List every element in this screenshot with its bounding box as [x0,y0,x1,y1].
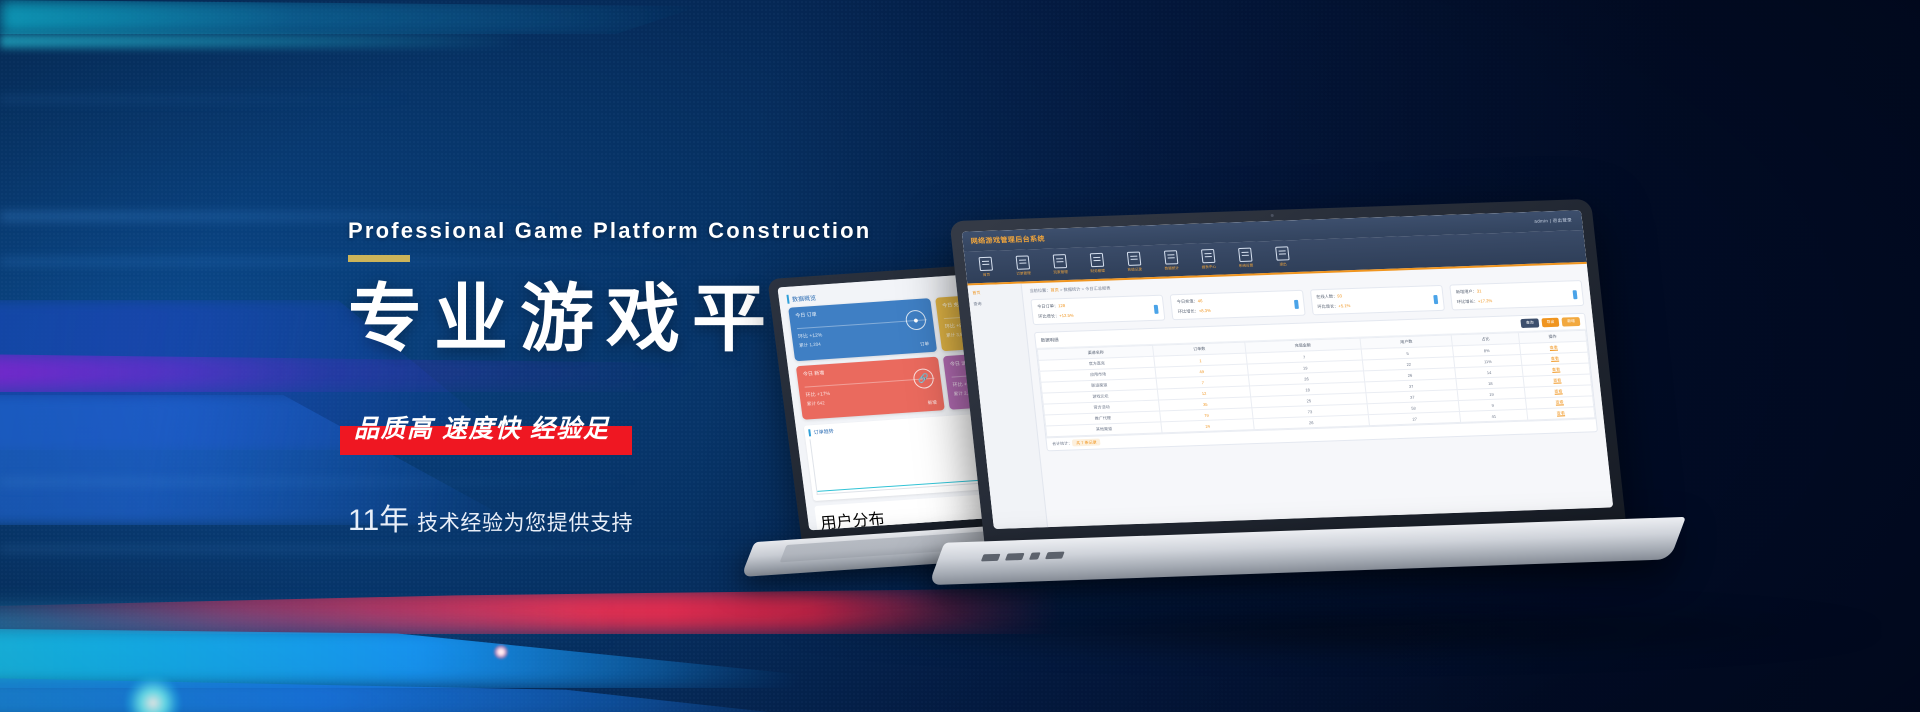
kpi-bottom: 环比增长：+8.3% [1178,305,1299,315]
kpi-bottom-value: +17.2% [1478,298,1493,303]
stats-icon [1163,250,1178,264]
kpi-bottom: 环比增长：+12.5% [1038,310,1159,320]
app-main-content: 当前位置：首页 > 数据统计 > 今日汇总报表 今日订单：128 环比增长：+1… [1022,264,1614,527]
front-laptop: 网络游戏管理后台系统 admin | 退出登录 首页 订单管理 [929,197,1700,680]
toolbar-label: 订单管理 [1016,271,1031,276]
report-icon [1200,248,1215,262]
kpi-top-value: 93 [1337,293,1342,298]
toolbar-label: 充值记录 [1127,267,1142,272]
finance-icon [1089,252,1104,266]
toolbar-item-orders[interactable]: 订单管理 [1012,255,1034,277]
player-icon [1052,254,1067,268]
breadcrumb-prefix: 当前位置： [1029,288,1051,294]
app-body: 首页 查询 当前位置：首页 > 数据统计 > 今日汇总报表 今日订单：128 [967,264,1613,529]
kpi-card[interactable]: 在线人数：93 环比增长：+5.1% [1309,285,1444,315]
years-number: 11年 [348,504,409,537]
feature-badge: 品质高 速度快 经验足 [348,409,615,445]
app-title: 网络游戏管理后台系统 [970,234,1045,247]
kpi-top-label: 今日订单： [1037,303,1059,309]
banner-stage: Professional Game Platform Construction … [0,0,1920,712]
kpi-bottom-label: 环比增长： [1038,313,1060,319]
kpi-top: 新增用户：31 [1456,285,1577,295]
kpi-card[interactable]: 今日充值：46 环比增长：+8.3% [1170,290,1305,320]
breadcrumb-suffix: > 数据统计 > 今日汇总报表 [1059,285,1111,292]
sidebar-item-query[interactable]: 查询 [973,300,1019,308]
toolbar-label: 数据统计 [1164,266,1179,271]
kpi-top-value: 46 [1197,298,1202,303]
kpi-card[interactable]: 今日订单：128 环比增长：+12.5% [1030,295,1165,325]
home-icon [978,256,993,270]
kpi-bottom-value: +5.1% [1338,303,1351,308]
stat-icon-label: 新增 [927,400,937,407]
table-title: 数据明细 [1041,337,1059,344]
years-description: 技术经验为您提供支持 [417,512,633,535]
toolbar-label: 财务管理 [1090,268,1105,273]
query-button[interactable]: 查询 [1521,318,1540,328]
front-laptop-screen: 网络游戏管理后台系统 admin | 退出登录 首页 订单管理 [962,210,1614,529]
table-footer-label: 合计统计： [1052,441,1073,447]
laptop-ports [981,552,1065,562]
kpi-top: 今日订单：128 [1037,300,1158,310]
kpi-bottom-value: +8.3% [1199,308,1212,313]
export-button[interactable]: 导出 [1541,318,1560,328]
kpi-bottom-value: +12.5% [1059,313,1074,318]
badge-label: 品质高 速度快 经验足 [348,409,615,445]
kpi-top-label: 今日充值： [1176,298,1198,304]
toolbar-item-finance[interactable]: 财务管理 [1086,252,1108,274]
add-button[interactable]: 新增 [1562,317,1581,327]
settings-icon [1237,247,1252,261]
toolbar-item-stats[interactable]: 数据统计 [1160,250,1182,272]
kpi-top: 在线人数：93 [1316,290,1437,300]
toolbar-label: 系统设置 [1239,263,1254,268]
kpi-top: 今日充值：46 [1176,295,1297,305]
chart-bar-icon [1293,300,1298,309]
sidebar-item-home[interactable]: 首页 [972,289,1018,297]
chart-bar-icon [1433,295,1438,304]
table-footer-value: 共 7 条记录 [1072,439,1101,447]
port-icon [981,554,1001,562]
toolbar-item-reports[interactable]: 报表中心 [1197,248,1219,270]
kpi-top-value: 128 [1058,303,1066,308]
stat-card[interactable]: 今日 新增 环比 +17% 累计 642 🔗 新增 [796,357,945,420]
toolbar-item-settings[interactable]: 系统设置 [1234,247,1256,269]
kpi-bottom: 环比增长：+17.2% [1457,295,1578,305]
user-bar[interactable]: admin | 退出登录 [1534,217,1572,224]
kpi-bottom: 环比增长：+5.1% [1317,300,1438,310]
toolbar-item-logout[interactable]: 退出 [1271,246,1293,268]
kpi-bottom-label: 环比增长： [1178,308,1200,314]
stat-card[interactable]: 今日 订单 环比 +12% 累计 1,204 ● 订单 [788,298,937,361]
webcam-icon [1271,214,1274,217]
chart-bar-icon [1154,305,1159,314]
kpi-top-value: 31 [1477,288,1482,293]
toolbar-label: 玩家管理 [1053,270,1068,275]
table-actions: 查询 导出 新增 [1521,317,1581,328]
kpi-top-label: 新增用户： [1456,289,1478,295]
toolbar-label: 报表中心 [1201,264,1216,269]
admin-app-window: 网络游戏管理后台系统 admin | 退出登录 首页 订单管理 [962,210,1614,529]
port-icon [1005,553,1025,561]
laptop-group: 数据概览 今日 订单 环比 +12% 累计 1,204 ● 订单 今日 充值 [760,210,1920,630]
gold-underline-rule [348,255,410,262]
toolbar-label: 退出 [1279,262,1287,267]
logout-icon [1275,246,1290,260]
kpi-top-label: 在线人数： [1316,294,1338,300]
port-icon [1045,552,1065,560]
stat-icon-label: 订单 [920,341,930,348]
toolbar-item-home[interactable]: 首页 [974,256,996,278]
kpi-bottom-label: 环比增长： [1457,299,1479,305]
front-laptop-lid: 网络游戏管理后台系统 admin | 退出登录 首页 订单管理 [949,199,1626,549]
toolbar-item-players[interactable]: 玩家管理 [1049,254,1071,276]
kpi-bottom-label: 环比增长： [1317,303,1339,309]
chart-bar-icon [1573,290,1578,299]
data-table-card: 数据明细 查询 导出 新增 [1034,313,1598,452]
toolbar-item-recharge[interactable]: 充值记录 [1123,251,1145,273]
kpi-card[interactable]: 新增用户：31 环比增长：+17.2% [1449,280,1584,310]
recharge-icon [1126,251,1141,265]
order-icon [1015,255,1030,269]
port-icon [1029,552,1041,559]
toolbar-label: 首页 [983,272,991,277]
